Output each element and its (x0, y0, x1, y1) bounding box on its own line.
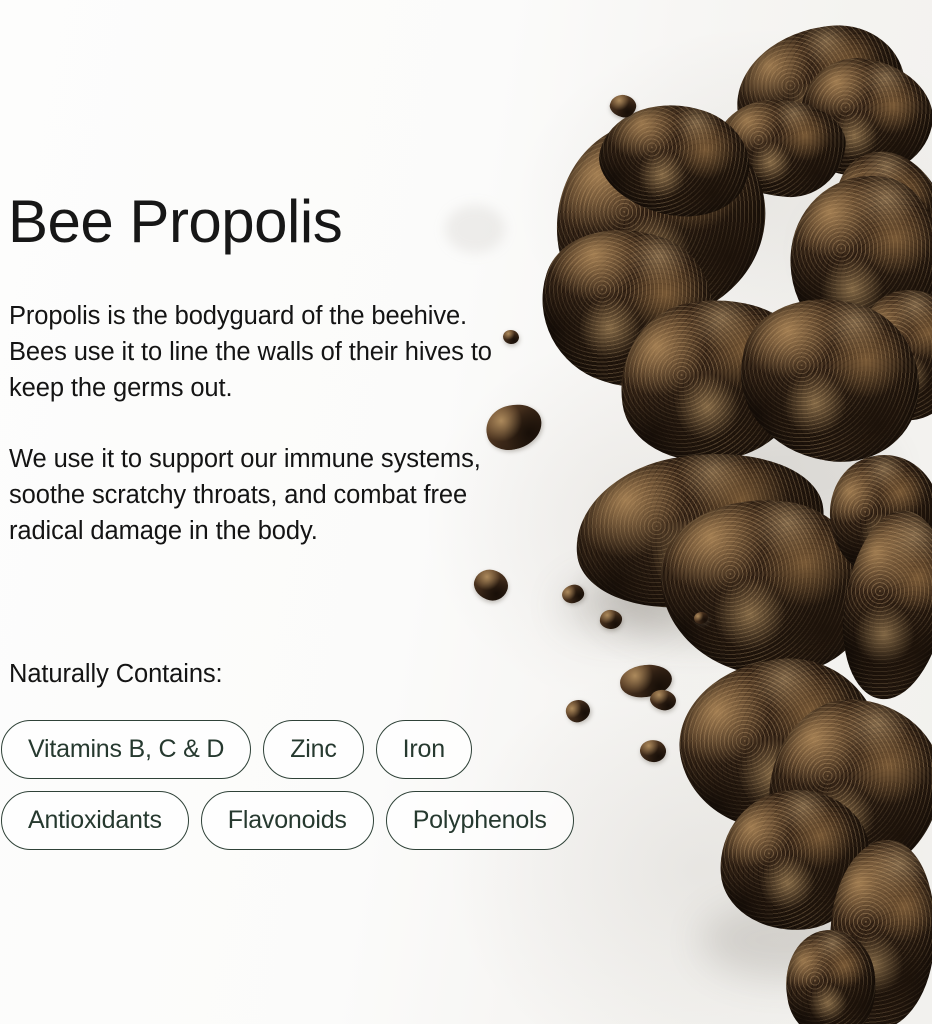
ingredient-pill-list: Vitamins B, C & D Zinc Iron Antioxidants… (0, 720, 700, 862)
ingredient-pill-row: Vitamins B, C & D Zinc Iron (0, 720, 700, 779)
page-title: Bee Propolis (8, 192, 342, 252)
propolis-chunk (760, 690, 932, 889)
propolis-chunk (727, 286, 932, 475)
propolis-chunk (710, 93, 849, 202)
chunk-shadow (700, 900, 870, 980)
propolis-chunk (819, 445, 932, 585)
ingredient-pill-vitamins[interactable]: Vitamins B, C & D (1, 720, 251, 779)
propolis-chunk (727, 15, 914, 160)
product-ingredient-panel: Bee Propolis Propolis is the bodyguard o… (0, 0, 932, 1024)
ingredient-pill-row: Antioxidants Flavonoids Polyphenols (0, 791, 700, 850)
propolis-chunk (789, 48, 932, 191)
propolis-chunk (779, 924, 883, 1024)
chunk-shadow (690, 420, 890, 530)
propolis-chunk (821, 139, 932, 301)
chunk-shadow (820, 205, 932, 295)
intro-paragraph-2: We use it to support our immune systems,… (9, 441, 519, 549)
ingredient-pill-iron[interactable]: Iron (376, 720, 472, 779)
intro-paragraph-1: Propolis is the bodyguard of the beehive… (9, 298, 519, 406)
ingredient-pill-flavonoids[interactable]: Flavonoids (201, 791, 374, 850)
text-column: Bee Propolis Propolis is the bodyguard o… (0, 0, 700, 1024)
propolis-chunk (851, 285, 932, 424)
naturally-contains-label: Naturally Contains: (9, 657, 223, 691)
ingredient-pill-polyphenols[interactable]: Polyphenols (386, 791, 574, 850)
propolis-chunk (779, 165, 932, 359)
propolis-chunk (667, 644, 893, 846)
propolis-chunk (820, 835, 932, 1024)
ingredient-pill-antioxidants[interactable]: Antioxidants (1, 791, 189, 850)
ingredient-pill-zinc[interactable]: Zinc (263, 720, 363, 779)
propolis-chunk (715, 785, 874, 935)
propolis-chunk (831, 503, 932, 706)
